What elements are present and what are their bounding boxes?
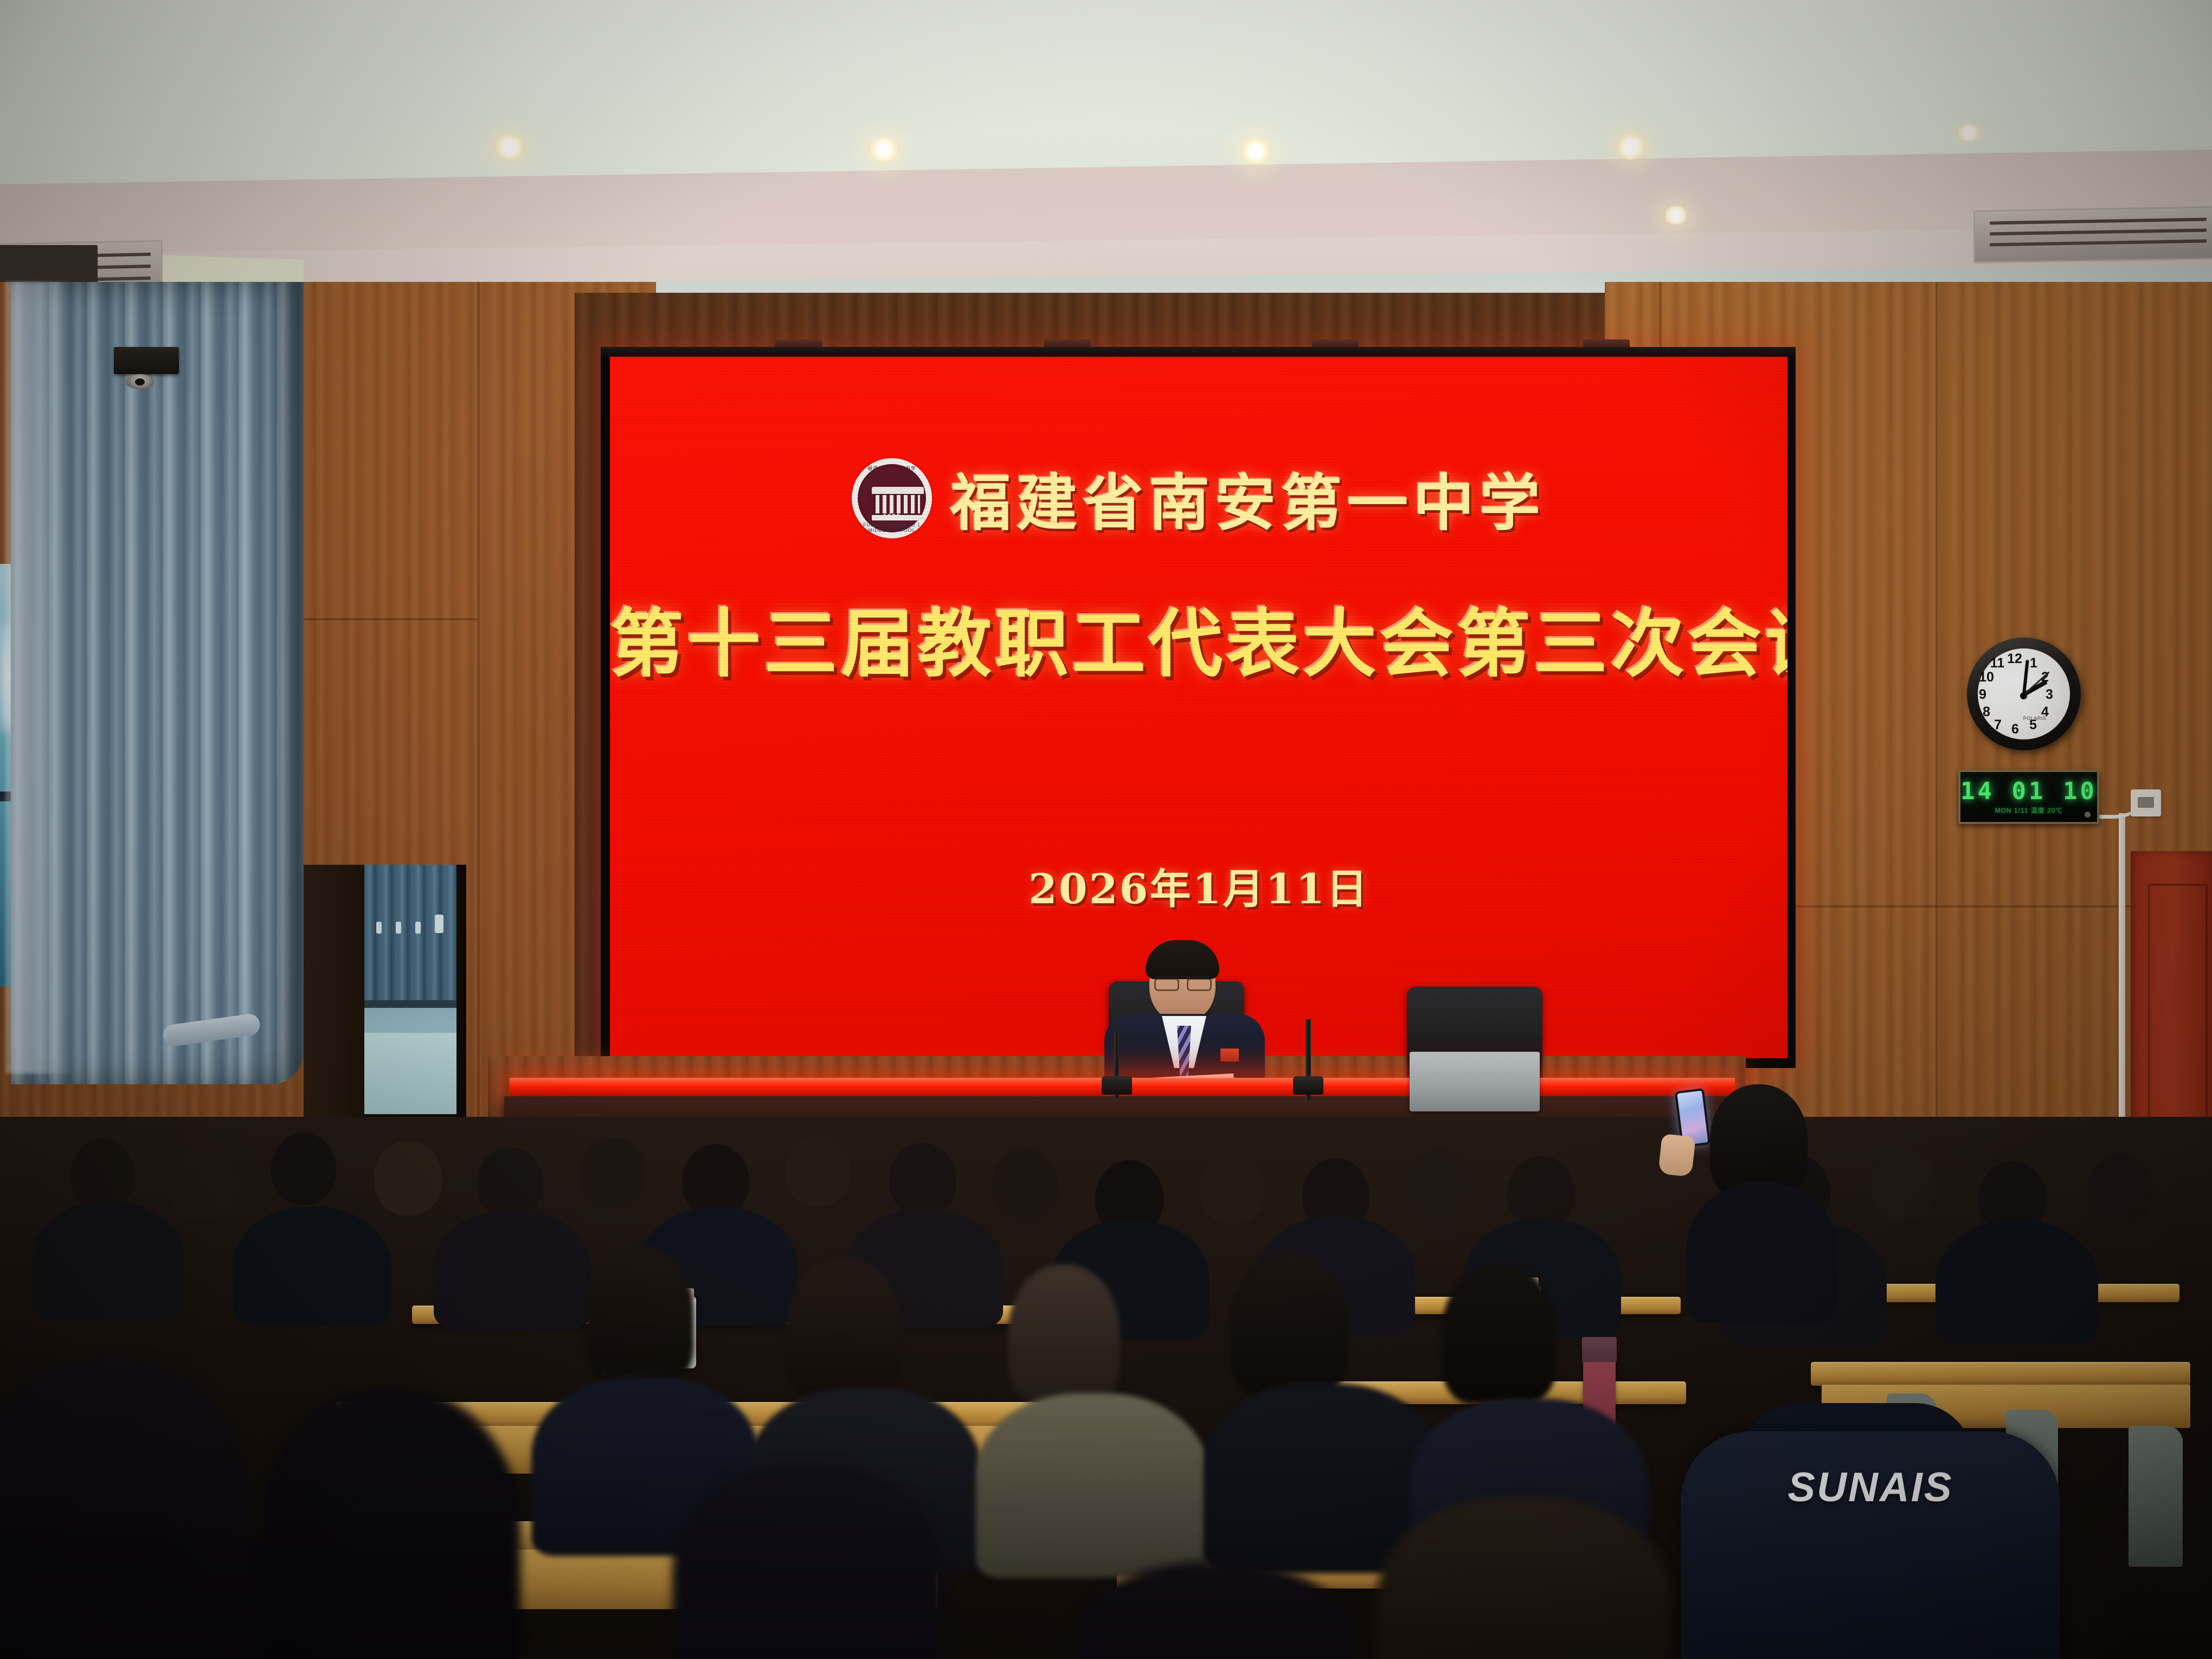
audience-shoulders xyxy=(233,1207,390,1326)
emblem-founded-year: 1939 xyxy=(883,512,901,520)
audience-head xyxy=(992,1148,1058,1221)
security-camera-icon xyxy=(126,374,154,389)
emblem-ring-text-bottom: FUJIAN NANAN NO.1 MIDDLE SCHOOL xyxy=(852,522,932,533)
thermos-cap xyxy=(1582,1337,1617,1362)
speaker-hair xyxy=(1146,940,1219,979)
audience-head xyxy=(1008,1264,1120,1403)
clock-hour-8: 8 xyxy=(1977,705,1996,719)
clock-brand-label: POLARIS xyxy=(2011,716,2058,721)
emblem-roof xyxy=(872,487,924,494)
audience-head xyxy=(477,1147,543,1220)
speaker-glasses-icon xyxy=(1154,976,1212,987)
audience-head xyxy=(168,1148,235,1222)
microphone-base-center xyxy=(1293,1076,1323,1095)
ceiling-downlight xyxy=(1663,206,1688,224)
clock-hour-11: 11 xyxy=(1988,656,2007,670)
audience-shoulders xyxy=(976,1393,1209,1578)
screen-meeting-date: 2026年1月11日 xyxy=(610,856,1787,915)
audience-shoulders xyxy=(434,1210,591,1329)
audience-head xyxy=(1405,1149,1470,1221)
audience-head xyxy=(1442,1263,1556,1404)
bench-row[interactable] xyxy=(1811,1362,2190,1386)
curtain-highlight-edge xyxy=(5,282,70,1073)
digital-clock-display: 14 01 10 MON 1/11 温度 20℃ xyxy=(1958,770,2099,824)
audience-head-photographer xyxy=(1710,1084,1808,1198)
microphone-base-speaker xyxy=(1102,1076,1132,1095)
clock-center-pin xyxy=(2020,692,2027,699)
corridor-floor xyxy=(364,1033,456,1114)
screen-meeting-title: 第十三届教职工代表大会第三次会议 xyxy=(610,584,1787,691)
clock-hour-6: 6 xyxy=(2006,722,2024,736)
screen-header-row: 福建省南安第一中学 1939 FUJIAN NANAN NO.1 MIDDLE … xyxy=(610,454,1787,542)
ceiling-downlight xyxy=(1616,134,1646,159)
wall-panel-seam xyxy=(477,282,480,1193)
audience-shoulders xyxy=(33,1201,184,1321)
foreground-person-head xyxy=(672,1464,943,1659)
wall-speaker xyxy=(114,347,179,374)
ceiling-downlight xyxy=(1956,125,1981,141)
speaker-lapel-badge xyxy=(1220,1049,1239,1062)
digital-clock-sensor-icon xyxy=(2085,812,2091,818)
corridor-handrail xyxy=(364,1000,456,1008)
audience-head xyxy=(70,1139,134,1210)
audience-shoulders-photographer xyxy=(1686,1182,1838,1323)
audience-head xyxy=(1870,1148,1937,1221)
audience-head xyxy=(1199,1152,1265,1224)
emblem-columns xyxy=(876,495,920,513)
clock-hour-7: 7 xyxy=(1989,718,2007,732)
coat-hook-icon xyxy=(415,922,421,934)
coat-hook-icon xyxy=(396,922,401,934)
sunais-brand-text: SUNAIS xyxy=(1740,1464,2001,1511)
audience-shoulders xyxy=(1935,1220,2098,1345)
clock-hour-12: 12 xyxy=(2005,652,2024,666)
audience-head xyxy=(271,1133,336,1205)
clock-hour-3: 3 xyxy=(2040,687,2059,702)
corridor-view xyxy=(364,865,456,1114)
coat-hook-icon xyxy=(376,922,382,934)
seat-side-frame xyxy=(2129,1426,2183,1567)
wall-power-outlet[interactable] xyxy=(2131,789,2161,816)
foreground-person-head xyxy=(260,1388,520,1659)
clock-hour-9: 9 xyxy=(1973,687,1992,702)
audience-head xyxy=(889,1143,956,1217)
audience-head xyxy=(586,1247,694,1382)
audience-head xyxy=(580,1137,645,1209)
digital-clock-time: 14 01 10 xyxy=(1960,777,2097,805)
screen-school-name: 福建省南安第一中学 xyxy=(950,454,1546,542)
audience-phone-hand xyxy=(1658,1134,1695,1177)
ac-vent-right xyxy=(1973,206,2212,263)
clock-face: 12 1 2 3 4 5 6 7 8 9 10 11 POLARIS xyxy=(1978,648,2070,740)
audience-head xyxy=(786,1258,900,1399)
digital-clock-sublabels: MON 1/11 温度 20℃ xyxy=(1960,806,2097,815)
ceiling-downlight xyxy=(494,134,525,159)
ceiling-downlight xyxy=(869,137,899,162)
audience-head xyxy=(785,1135,850,1207)
ceiling-downlight xyxy=(1240,139,1271,164)
clock-hour-10: 10 xyxy=(1977,670,1996,684)
audience-head xyxy=(1231,1252,1347,1396)
school-emblem-icon: 福建省南安第一中学 1939 FUJIAN NANAN NO.1 MIDDLE … xyxy=(852,458,932,538)
analog-wall-clock: 12 1 2 3 4 5 6 7 8 9 10 11 POLARIS xyxy=(1967,638,2081,750)
auditorium-scene: 12 1 2 3 4 5 6 7 8 9 10 11 POLARIS 14 01… xyxy=(0,0,2212,1659)
audience-head xyxy=(2087,1154,2153,1226)
coat-hook-icon xyxy=(435,915,443,933)
audience-head xyxy=(374,1141,442,1216)
laptop-on-table[interactable] xyxy=(1410,1052,1540,1111)
